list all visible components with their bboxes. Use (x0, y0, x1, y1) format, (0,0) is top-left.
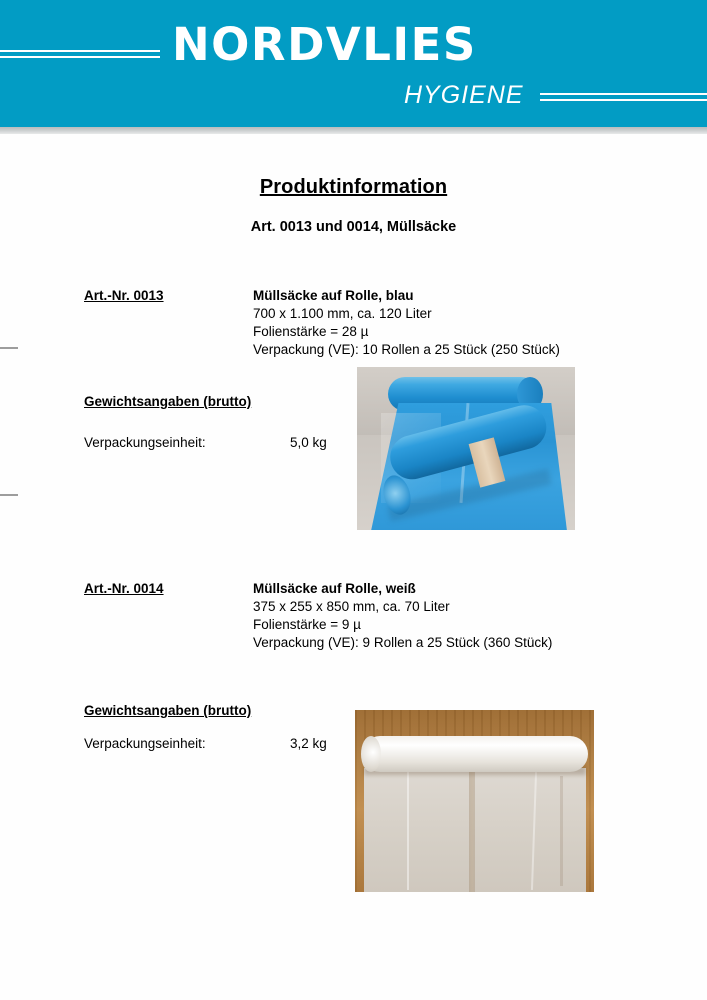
product-0-weights-title: Gewichtsangaben (brutto) (84, 394, 251, 409)
white-sheet-crease-far-right (560, 776, 563, 886)
product-0-packaging: Verpackung (VE): 10 Rollen a 25 Stück (2… (253, 341, 560, 359)
product-1-weights-title: Gewichtsangaben (brutto) (84, 703, 251, 718)
product-0-weight-label: Verpackungseinheit: (84, 435, 290, 450)
product-1-name: Müllsäcke auf Rolle, weiß (253, 580, 552, 598)
header-rule-left-upper (0, 50, 160, 52)
product-1-dimensions: 375 x 255 x 850 mm, ca. 70 Liter (253, 598, 552, 616)
white-roll-end (361, 736, 381, 772)
product-1-thickness: Folienstärke = 9 µ (253, 616, 552, 634)
product-1-photo (355, 710, 594, 892)
product-1-weights-row: Verpackungseinheit:3,2 kg (84, 736, 327, 751)
margin-guide-tick-lower (0, 494, 18, 496)
product-information-page: NORDVLIES HYGIENE Produktinformation Art… (0, 0, 707, 1000)
page-subtitle: Art. 0013 und 0014, Müllsäcke (0, 219, 707, 235)
product-0-weight-value: 5,0 kg (290, 435, 327, 450)
product-1-weight-label: Verpackungseinheit: (84, 736, 290, 751)
white-sheet-crease-left (407, 770, 409, 890)
product-0-dimensions: 700 x 1.100 mm, ca. 120 Liter (253, 305, 560, 323)
margin-guide-tick-upper (0, 347, 18, 349)
white-roll (362, 736, 588, 772)
header-rule-right-lower (540, 99, 707, 101)
brand-wordmark: NORDVLIES (172, 22, 477, 67)
white-sheet-center-seam (469, 768, 475, 892)
product-0-name: Müllsäcke auf Rolle, blau (253, 287, 560, 305)
product-1-packaging: Verpackung (VE): 9 Rollen a 25 Stück (36… (253, 634, 552, 652)
product-0-article-number: Art.-Nr. 0013 (84, 288, 164, 303)
product-1-article-number: Art.-Nr. 0014 (84, 581, 164, 596)
page-title: Produktinformation (0, 176, 707, 199)
product-0-details: Müllsäcke auf Rolle, blau 700 x 1.100 mm… (253, 287, 560, 359)
product-1-details: Müllsäcke auf Rolle, weiß 375 x 255 x 85… (253, 580, 552, 652)
header-rule-left-lower (0, 56, 160, 58)
brand-subtitle: HYGIENE (404, 83, 524, 108)
header-drop-shadow (0, 127, 707, 134)
header-rule-right-upper (540, 93, 707, 95)
white-sheet (364, 768, 586, 892)
product-0-thickness: Folienstärke = 28 µ (253, 323, 560, 341)
product-1-weight-value: 3,2 kg (290, 736, 327, 751)
product-0-weights-row: Verpackungseinheit:5,0 kg (84, 435, 327, 450)
brand-header-banner: NORDVLIES HYGIENE (0, 0, 707, 127)
product-0-photo (357, 367, 575, 530)
